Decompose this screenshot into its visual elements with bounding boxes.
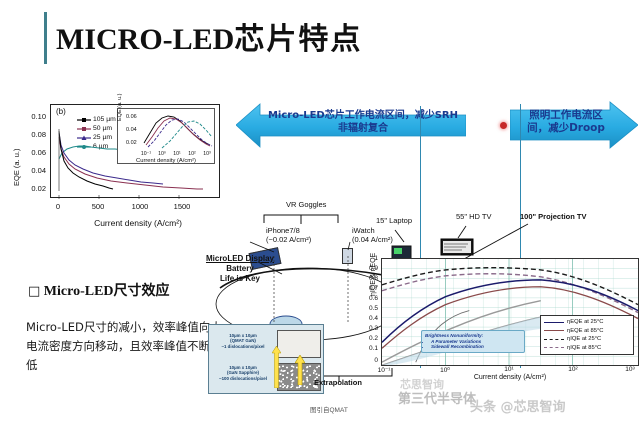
right-arrow-label: 照明工作电流区间，减少Droop bbox=[520, 109, 612, 135]
inset-y-tick: 0.02 bbox=[126, 140, 137, 146]
inset-x-tick: 10³ bbox=[203, 151, 211, 157]
sem-label-qmat: 10µm x 10µm (QMAT GaN) ~1 dislocations/p… bbox=[213, 333, 273, 349]
brightness-nonuniformity-callout: Brightness Nonuniformity: A Parameter Va… bbox=[421, 330, 525, 353]
right-y-tick: 0 bbox=[362, 357, 378, 364]
watermark-secondary: 头条 @芯思智询 bbox=[470, 396, 566, 415]
page-title-en: MICRO-LED bbox=[56, 23, 234, 56]
left-arrow-label: Micro-LED芯片工作电流区间，减少SRH非辐射复合 bbox=[266, 109, 460, 135]
arrow-lighting-region[interactable]: 照明工作电流区间，减少Droop bbox=[510, 98, 638, 152]
x-tick: 0 bbox=[56, 202, 60, 211]
x-tick: 1000 bbox=[132, 202, 149, 211]
microled-display-title: MicroLED Display bbox=[198, 254, 282, 264]
left-chart-y-ticks: 0.10 0.08 0.06 0.04 0.02 bbox=[18, 104, 48, 198]
sem-sapphire-line3: ~100 dislocations/pixel bbox=[213, 376, 273, 381]
x-tick: 500 bbox=[92, 202, 105, 211]
y-tick: 0.06 bbox=[31, 148, 46, 157]
right-chart-legend: ηEQE at 25°C ηEQE at 85°C ηIQE at 25°C η… bbox=[540, 315, 634, 355]
legend-label: ηEQE at 85°C bbox=[567, 327, 603, 336]
section-heading: □ Micro-LED尺寸效应 bbox=[28, 280, 170, 300]
left-chart-y-label: EQE (a. u.) bbox=[12, 172, 21, 186]
page-title-cn: 芯片特点 bbox=[234, 22, 362, 57]
right-x-tick: 10³ bbox=[625, 366, 634, 373]
right-y-tick: 1 bbox=[362, 255, 378, 262]
right-y-tick: 0.6 bbox=[362, 295, 378, 302]
sem-image-qmat bbox=[277, 330, 321, 358]
section-heading-cn: 尺寸效应 bbox=[114, 283, 170, 299]
inset-x-tick: 10² bbox=[188, 151, 196, 157]
source-credit: 图引自QMAT bbox=[310, 404, 348, 414]
sem-comparison-card: 10µm x 10µm (QMAT GaN) ~1 dislocations/p… bbox=[208, 324, 324, 394]
right-y-tick: 0.4 bbox=[362, 315, 378, 322]
microled-display-line2: Battery bbox=[198, 264, 282, 274]
right-y-tick: 0.3 bbox=[362, 325, 378, 332]
y-tick: 0.02 bbox=[31, 184, 46, 193]
label-extrapolation: Extrapolation bbox=[314, 378, 362, 387]
sem-qmat-line3: ~1 dislocations/pixel bbox=[213, 344, 273, 349]
right-x-tick: 10² bbox=[568, 366, 577, 373]
inset-x-label: Current density (A/cm²) bbox=[118, 158, 214, 164]
inset-x-tick: 10⁰ bbox=[158, 151, 166, 157]
inset-x-tick: 10⁻¹ bbox=[141, 151, 151, 157]
inset-y-tick: 0.04 bbox=[126, 127, 137, 133]
page-title: MICRO-LED芯片特点 bbox=[56, 14, 362, 58]
watermark-tertiary: 芯思智询 bbox=[400, 376, 444, 392]
y-tick: 0.10 bbox=[31, 112, 46, 121]
slide-canvas: MICRO-LED芯片特点 0.10 0.08 0.06 0.04 0.02 E… bbox=[0, 0, 640, 421]
legend-label: ηEQE at 25°C bbox=[567, 318, 603, 327]
inset-y-tick: 0.06 bbox=[126, 114, 137, 120]
title-accent-bar bbox=[44, 12, 47, 64]
left-chart-plot-area: (b) 105 µm 50 µm 25 µm 6 µm bbox=[50, 104, 220, 198]
right-y-tick: 0.1 bbox=[362, 345, 378, 352]
right-y-tick: 0.7 bbox=[362, 285, 378, 292]
section-heading-en: Micro-LED bbox=[44, 284, 114, 299]
right-x-tick: 10⁰ bbox=[440, 366, 450, 374]
legend-label: ηIQE at 25°C bbox=[567, 335, 601, 344]
inset-y-label: EQE (a. u.) bbox=[117, 93, 123, 121]
right-y-tick: 0.5 bbox=[362, 305, 378, 312]
pixel-pillar-arrow-icon bbox=[272, 346, 281, 388]
up-arrow-icon bbox=[295, 355, 305, 385]
y-tick: 0.04 bbox=[31, 166, 46, 175]
legend-item: ηIQE at 85°C bbox=[544, 344, 630, 353]
legend-label: ηIQE at 85°C bbox=[567, 344, 601, 353]
legend-item: ηIQE at 25°C bbox=[544, 335, 630, 344]
y-tick: 0.08 bbox=[31, 130, 46, 139]
square-bullet-icon: □ bbox=[28, 284, 40, 299]
right-y-tick: 0.8 bbox=[362, 275, 378, 282]
x-tick: 1500 bbox=[174, 202, 191, 211]
legend-item: ηEQE at 25°C bbox=[544, 318, 630, 327]
label-microled-display: MicroLED Display Battery Life is Key bbox=[198, 254, 282, 284]
arrow-micro-led-region[interactable]: Micro-LED芯片工作电流区间，减少SRH非辐射复合 bbox=[236, 100, 466, 150]
legend-item: ηEQE at 85°C bbox=[544, 327, 630, 336]
right-y-tick: 0.9 bbox=[362, 265, 378, 272]
right-y-tick: 0.2 bbox=[362, 335, 378, 342]
inset-x-tick: 10¹ bbox=[173, 151, 181, 157]
callout-item: Sidewall Recombination bbox=[431, 344, 521, 350]
marker-dot-icon bbox=[500, 122, 507, 129]
right-x-tick: 10⁻¹ bbox=[378, 366, 391, 374]
microled-display-line3: Life is Key bbox=[198, 274, 282, 284]
left-chart-inset: EQE (a. u.) 0.06 0.04 0.02 10⁻¹ 10⁰ 10¹ … bbox=[117, 108, 215, 164]
right-x-tick: 10¹ bbox=[504, 366, 513, 373]
inset-curves bbox=[142, 111, 214, 151]
sem-label-sapphire: 10µm x 10µm (GaN Sapphire) ~100 dislocat… bbox=[213, 365, 273, 381]
